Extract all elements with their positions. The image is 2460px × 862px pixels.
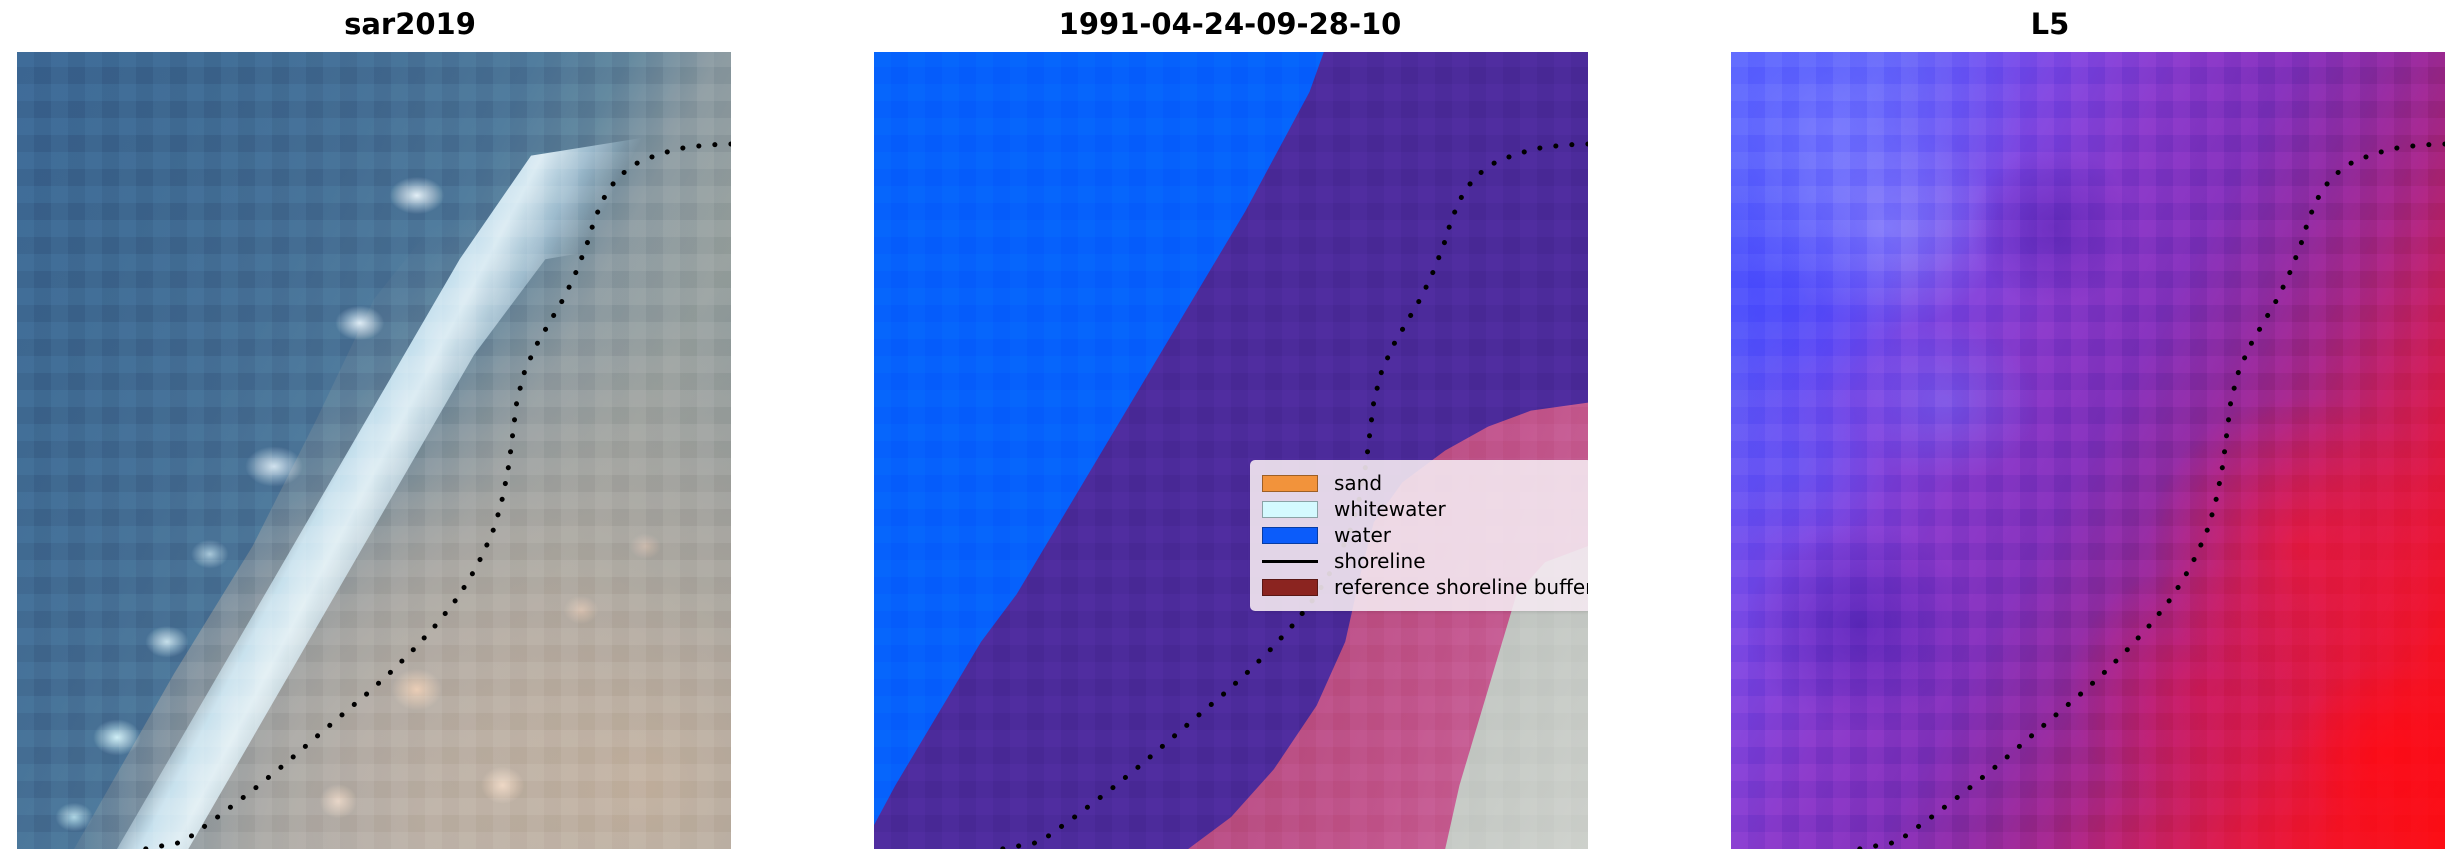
shoreline-path [1859,144,2445,849]
legend-item-whitewater: whitewater [1262,496,1578,522]
water-swatch-icon [1262,527,1318,544]
legend-item-reference-buffer: reference shoreline buffer [1262,574,1578,600]
legend-label-water: water [1334,523,1391,547]
legend-label-sand: sand [1334,471,1382,495]
panel-l5-index: L5 [1640,0,2460,862]
axes-panel-2: sand whitewater water shoreline referenc… [874,52,1588,849]
shoreline-overlay-2 [874,52,1588,849]
axes-panel-3 [1731,52,2445,849]
legend-item-shoreline: shoreline [1262,548,1578,574]
axes-panel-1 [17,52,731,849]
panel-classification: 1991-04-24-09-28-10 sand whitewater [820,0,1640,862]
reference-buffer-swatch-icon [1262,579,1318,596]
shoreline-overlay-1 [17,52,731,849]
shoreline-path [145,144,731,849]
legend-label-reference-buffer: reference shoreline buffer [1334,575,1588,599]
panel-title-3: L5 [1640,6,2460,42]
legend-label-whitewater: whitewater [1334,497,1446,521]
panel-sar2019: sar2019 [0,0,820,862]
legend-box: sand whitewater water shoreline referenc… [1250,460,1588,611]
shoreline-overlay-3 [1731,52,2445,849]
shoreline-line-icon [1262,553,1318,570]
legend-item-sand: sand [1262,470,1578,496]
legend-item-water: water [1262,522,1578,548]
figure-root: sar2019 1991-04-24-09-28-10 [0,0,2460,862]
whitewater-swatch-icon [1262,501,1318,518]
legend-label-shoreline: shoreline [1334,549,1426,573]
panel-title-2: 1991-04-24-09-28-10 [820,6,1640,42]
panel-title-1: sar2019 [0,6,820,42]
sand-swatch-icon [1262,475,1318,492]
